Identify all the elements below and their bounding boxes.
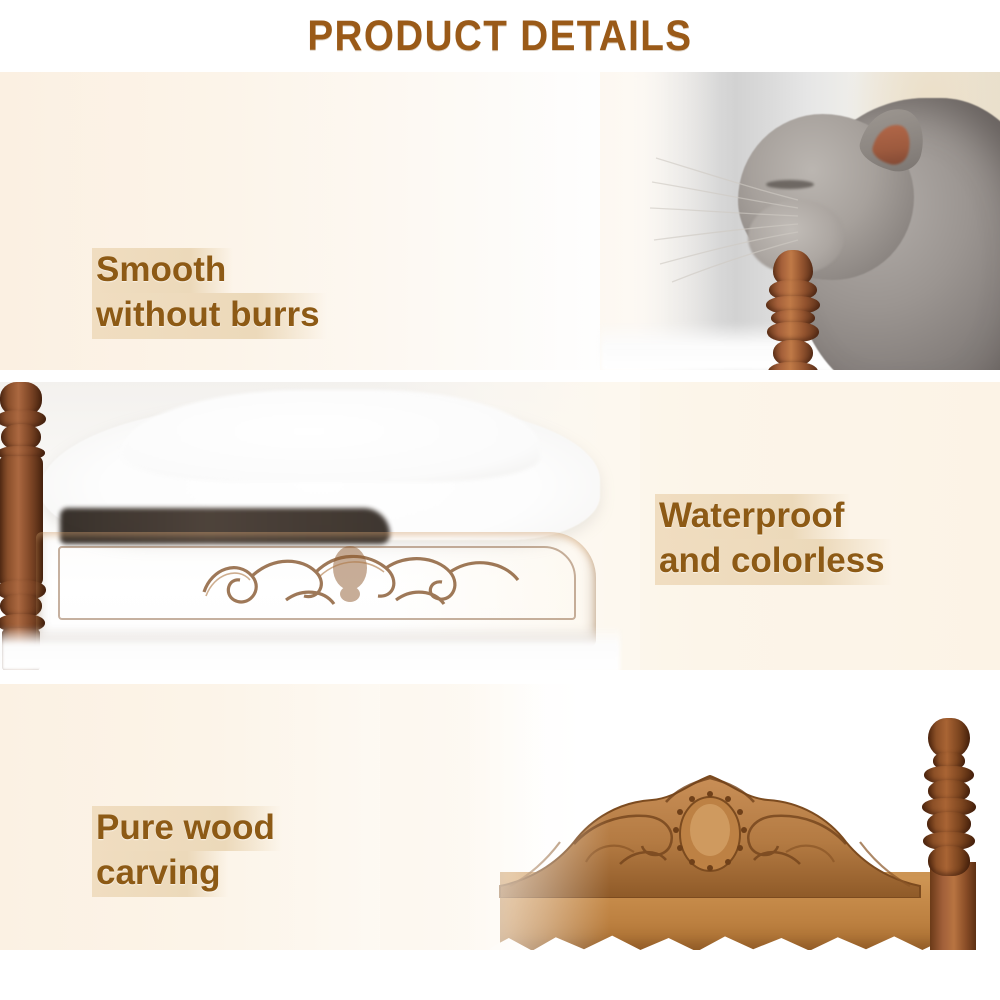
- caption-waterproof: Waterproof and colorless: [655, 494, 892, 585]
- caption-line-1: Pure wood: [92, 806, 282, 851]
- wooden-finial-post: [766, 250, 820, 372]
- detail-panel-carving: Pure wood carving: [0, 682, 1000, 976]
- panel-bottom-white-strip: [0, 950, 1000, 976]
- headboard-finial-post: [920, 718, 978, 968]
- detail-panel-smooth: Smooth without burrs: [0, 72, 1000, 372]
- page-title: PRODUCT DETAILS: [307, 12, 692, 61]
- photo-left-fade: [380, 682, 610, 976]
- panel-divider-2: [0, 670, 1000, 684]
- product-details-page: PRODUCT DETAILS: [0, 0, 1000, 1000]
- caption-smooth: Smooth without burrs: [92, 248, 327, 339]
- caption-line-2: carving: [92, 851, 228, 896]
- photo-bottom-fade: [0, 626, 620, 672]
- caption-line-1: Smooth: [92, 248, 233, 293]
- caption-line-2: without burrs: [92, 293, 327, 338]
- caption-line-2: and colorless: [655, 539, 892, 584]
- panel-divider-1: [0, 370, 1000, 382]
- caption-line-1: Waterproof: [655, 494, 851, 539]
- page-title-band: PRODUCT DETAILS: [0, 0, 1000, 72]
- detail-panel-waterproof: Waterproof and colorless: [0, 380, 1000, 672]
- caption-carving: Pure wood carving: [92, 806, 282, 897]
- scrollwork-carving-icon: [190, 538, 530, 622]
